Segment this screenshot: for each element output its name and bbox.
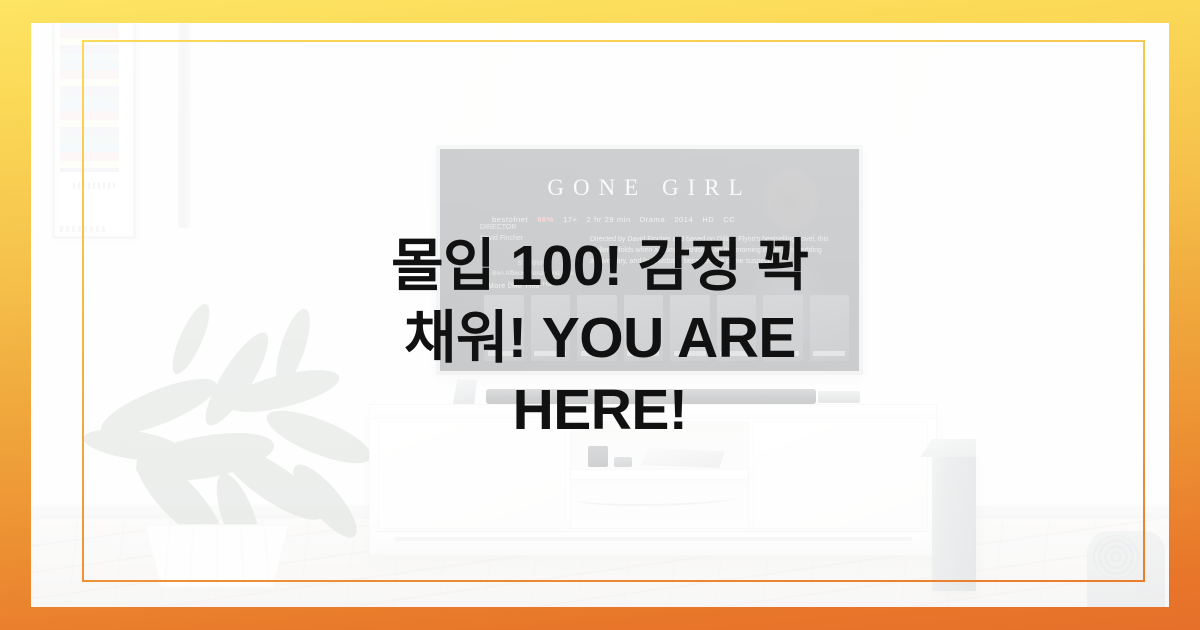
tv-poster (810, 295, 850, 361)
small-remote (614, 457, 632, 467)
tv-poster (717, 295, 757, 361)
tv-poster (577, 295, 617, 361)
soundbar (486, 389, 816, 404)
tv-year: 2014 (674, 215, 693, 224)
tv-row-label: More Like This (488, 283, 539, 290)
tv-quality: HD (702, 215, 714, 224)
potted-plant (87, 287, 367, 587)
remote-control (588, 446, 608, 467)
tv-poster (763, 295, 803, 361)
art-caption (60, 226, 106, 232)
tv-poster (624, 295, 664, 361)
living-room-scene: GONE GIRL bestofnet 98% 17+ 2 hr 29 min … (31, 23, 1169, 607)
tv-screen: GONE GIRL bestofnet 98% 17+ 2 hr 29 min … (440, 149, 859, 371)
stand-plinth (376, 531, 930, 555)
tv-synopsis: Directed by David Fincher and based on G… (590, 235, 840, 268)
stand-left-cabinet (378, 421, 566, 529)
tv-movie-title: GONE GIRL (440, 175, 859, 201)
tv-director-name: David Fincher (480, 234, 568, 245)
media-console (641, 448, 725, 468)
stand-center-cubby (570, 421, 749, 529)
cubby-shelf (571, 469, 748, 479)
wall-art-frame (52, 23, 136, 239)
stand-right-cabinet (753, 421, 928, 529)
tv-stand (369, 404, 937, 556)
art-signature (73, 182, 115, 189)
tv-poster (670, 295, 710, 361)
tv-poster (484, 295, 524, 361)
art-stripes (60, 23, 119, 172)
stand-top-surface (370, 405, 936, 419)
thumbnail-card: GONE GIRL bestofnet 98% 17+ 2 hr 29 min … (0, 0, 1200, 630)
floor-speaker (932, 453, 976, 591)
photo-panel: GONE GIRL bestofnet 98% 17+ 2 hr 29 min … (31, 23, 1169, 607)
floor-cushion (1087, 531, 1165, 607)
tv-poster (531, 295, 571, 361)
tv-director-block: DIRECTOR David Fincher (480, 223, 568, 244)
tv-genre: Drama (640, 215, 666, 224)
tv-duration: 2 hr 29 min (587, 215, 631, 224)
wall-edge-strip (178, 23, 191, 228)
tv-audio: CC (723, 215, 735, 224)
media-box (818, 391, 860, 403)
television: GONE GIRL bestofnet 98% 17+ 2 hr 29 min … (436, 145, 863, 375)
tv-director-label: DIRECTOR (480, 223, 568, 234)
tv-cast-label: STARRING (486, 259, 582, 269)
tv-poster-row (484, 295, 849, 361)
cushion-knit-texture (1093, 535, 1139, 579)
cable (577, 490, 740, 506)
